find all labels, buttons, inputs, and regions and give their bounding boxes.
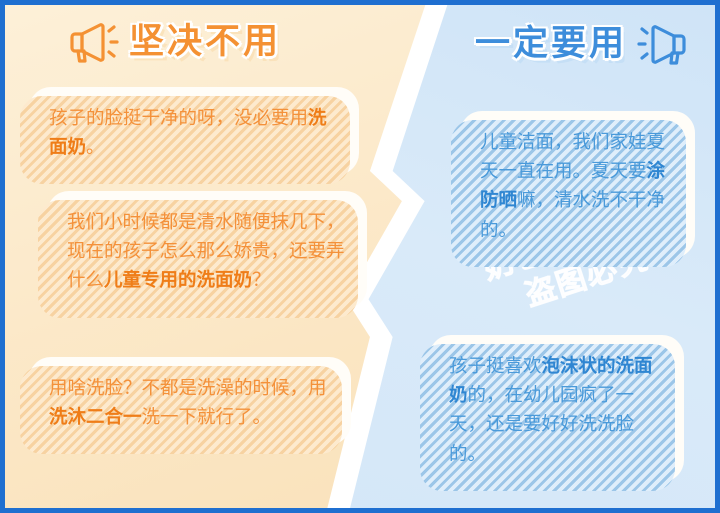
left-heading-text: 坚决不用 <box>129 24 281 59</box>
right-panel-heading: 一定要用 <box>475 19 689 67</box>
megaphone-icon <box>67 17 119 65</box>
left-panel-heading: 坚决不用 <box>67 17 281 65</box>
speech-bubble-text: 我们小时候都是清水随便抹几下，现在的孩子怎么那么娇贵，还要弄什么儿童专用的洗面奶… <box>67 207 347 295</box>
speech-bubble: 我们小时候都是清水随便抹几下，现在的孩子怎么那么娇贵，还要弄什么儿童专用的洗面奶… <box>47 191 367 309</box>
megaphone-icon <box>637 19 689 67</box>
speech-bubble: 孩子的脸挺干净的呀，没必要用洗面奶。 <box>29 87 359 175</box>
speech-bubble-text: 用啥洗脸？不都是洗澡的时候，用洗沐二合一洗一下就行了。 <box>49 373 331 431</box>
speech-bubble: 用啥洗脸？不都是洗澡的时候，用洗沐二合一洗一下就行了。 <box>29 357 351 445</box>
speech-bubble-text: 孩子挺喜欢泡沫状的洗面奶的，在幼儿园疯了一天，还是要好好洗洗脸的。 <box>449 351 664 468</box>
speech-bubble-text: 儿童洁面，我们家娃夏天一直在用。夏天要涂防晒嘛，清水洗不干净的。 <box>480 127 675 244</box>
speech-bubble-text: 孩子的脸挺干净的呀，没必要用洗面奶。 <box>49 103 339 161</box>
poster-canvas: 奶爸评测原创 盗图必究 坚决不用 一定要用 <box>0 0 720 513</box>
right-heading-text: 一定要用 <box>475 26 627 61</box>
speech-bubble: 儿童洁面，我们家娃夏天一直在用。夏天要涂防晒嘛，清水洗不干净的。 <box>460 111 695 258</box>
speech-bubble: 孩子挺喜欢泡沫状的洗面奶的，在幼儿园疯了一天，还是要好好洗洗脸的。 <box>429 335 684 482</box>
